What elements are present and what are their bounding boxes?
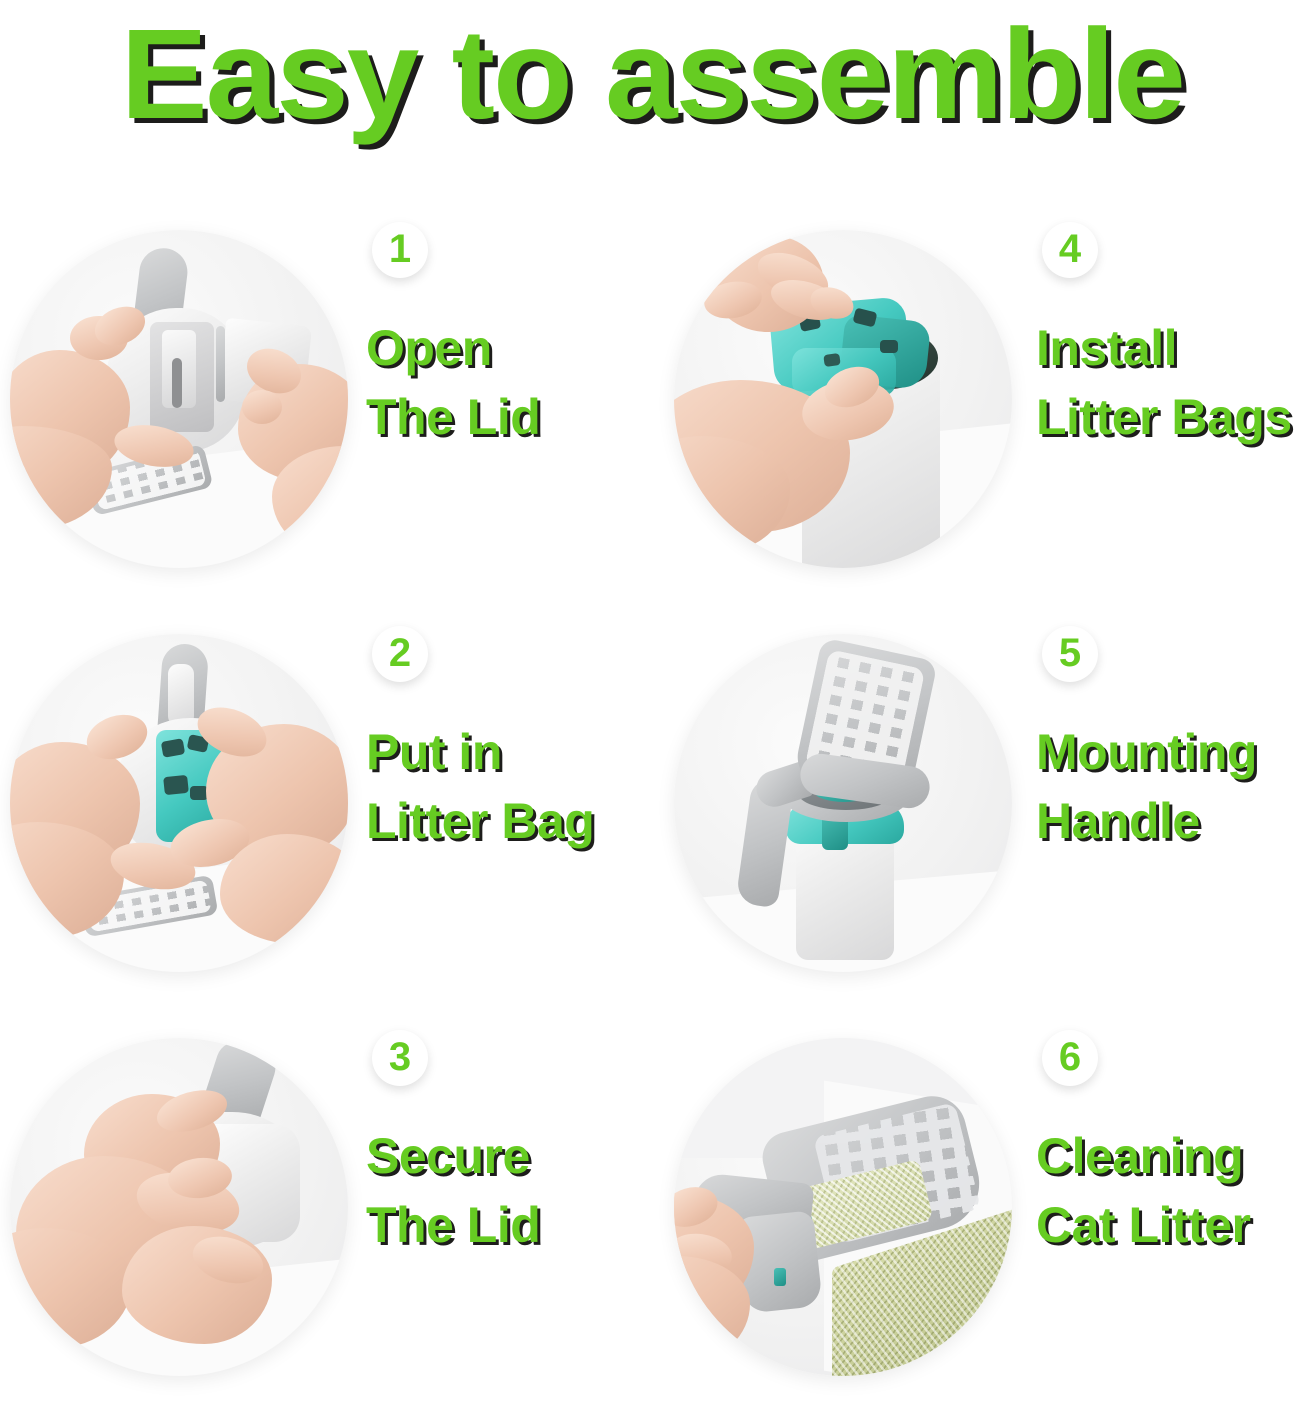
step-label-line2-4: Litter Bags bbox=[1036, 383, 1292, 452]
step-badge-3: 3 bbox=[372, 1030, 428, 1086]
step-badge-6: 6 bbox=[1042, 1030, 1098, 1086]
scene-cleaning-litter bbox=[674, 1038, 1012, 1376]
scene-put-in-bag bbox=[10, 634, 348, 972]
page-title: Easy to assemble bbox=[120, 11, 1183, 139]
step-caption-6: 6 Cleaning Cat Litter bbox=[1036, 1030, 1250, 1260]
scene-install-bag bbox=[674, 230, 1012, 568]
step-badge-4: 4 bbox=[1042, 222, 1098, 278]
step-label-line2-1: The Lid bbox=[366, 383, 540, 452]
steps-grid: 1 Open The Lid bbox=[0, 196, 1304, 1401]
step-label-line2-3: The Lid bbox=[366, 1191, 540, 1260]
step-label-line2-2: Litter Bag bbox=[366, 787, 594, 856]
scene-mount-handle bbox=[674, 634, 1012, 972]
step-photo-6 bbox=[674, 1038, 1012, 1376]
step-label-line2-6: Cat Litter bbox=[1036, 1191, 1250, 1260]
scene-open-lid bbox=[10, 230, 348, 568]
step-photo-1 bbox=[10, 230, 348, 568]
step-number-6: 6 bbox=[1059, 1037, 1081, 1077]
step-caption-2: 2 Put in Litter Bag bbox=[366, 626, 594, 856]
step-number-1: 1 bbox=[389, 229, 411, 269]
title-bar: Easy to assemble bbox=[0, 0, 1304, 150]
step-caption-3: 3 Secure The Lid bbox=[366, 1030, 540, 1260]
step-card-3: 3 Secure The Lid bbox=[0, 1004, 652, 1401]
step-label-line1-3: Secure bbox=[366, 1122, 540, 1191]
step-number-4: 4 bbox=[1059, 229, 1081, 269]
step-label-line1-5: Mounting bbox=[1036, 718, 1257, 787]
step-label-line1-2: Put in bbox=[366, 718, 594, 787]
step-photo-5 bbox=[674, 634, 1012, 972]
step-badge-1: 1 bbox=[372, 222, 428, 278]
step-number-2: 2 bbox=[389, 633, 411, 673]
step-number-5: 5 bbox=[1059, 633, 1081, 673]
step-label-line2-5: Handle bbox=[1036, 787, 1257, 856]
step-caption-4: 4 Install Litter Bags bbox=[1036, 222, 1292, 452]
step-card-5: 5 Mounting Handle bbox=[652, 600, 1304, 1004]
scene-secure-lid bbox=[10, 1038, 348, 1376]
step-photo-4 bbox=[674, 230, 1012, 568]
step-label-line1-1: Open bbox=[366, 314, 540, 383]
step-card-4: 4 Install Litter Bags bbox=[652, 196, 1304, 600]
step-label-line1-6: Cleaning bbox=[1036, 1122, 1250, 1191]
step-card-2: 2 Put in Litter Bag bbox=[0, 600, 652, 1004]
step-caption-1: 1 Open The Lid bbox=[366, 222, 540, 452]
step-label-line1-4: Install bbox=[1036, 314, 1292, 383]
step-number-3: 3 bbox=[389, 1037, 411, 1077]
step-card-1: 1 Open The Lid bbox=[0, 196, 652, 600]
step-photo-2 bbox=[10, 634, 348, 972]
step-caption-5: 5 Mounting Handle bbox=[1036, 626, 1257, 856]
step-card-6: 6 Cleaning Cat Litter bbox=[652, 1004, 1304, 1401]
step-badge-5: 5 bbox=[1042, 626, 1098, 682]
step-photo-3 bbox=[10, 1038, 348, 1376]
step-badge-2: 2 bbox=[372, 626, 428, 682]
